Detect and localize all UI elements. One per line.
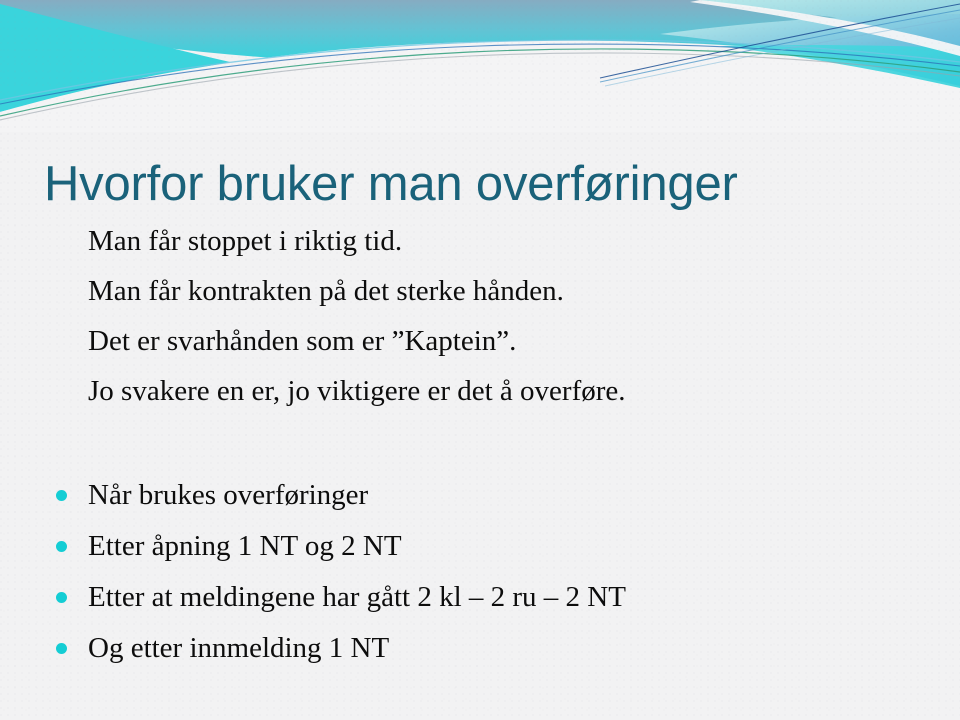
- intro-line: Man får stoppet i riktig tid.: [88, 216, 918, 266]
- list-item-label: Etter åpning 1 NT og 2 NT: [88, 530, 402, 562]
- presentation-slide: Hvorfor bruker man overføringer Man får …: [0, 0, 960, 720]
- list-item-label: Og etter innmelding 1 NT: [88, 632, 389, 664]
- bullet-dot-icon: [56, 541, 67, 552]
- list-item: Og etter innmelding 1 NT: [56, 623, 936, 674]
- intro-paragraph-block: Man får stoppet i riktig tid. Man får ko…: [88, 216, 918, 416]
- bullet-list: Når brukes overføringer Etter åpning 1 N…: [56, 470, 936, 674]
- list-item: Etter at meldingene har gått 2 kl – 2 ru…: [56, 572, 936, 623]
- intro-line: Man får kontrakten på det sterke hånden.: [88, 266, 918, 316]
- list-item-label: Etter at meldingene har gått 2 kl – 2 ru…: [88, 581, 626, 613]
- list-item-label: Når brukes overføringer: [88, 479, 368, 511]
- bullet-dot-icon: [56, 490, 67, 501]
- list-item: Etter åpning 1 NT og 2 NT: [56, 521, 936, 572]
- slide-title: Hvorfor bruker man overføringer: [44, 159, 924, 210]
- bullet-dot-icon: [56, 592, 67, 603]
- list-item: Når brukes overføringer: [56, 470, 936, 521]
- bullet-dot-icon: [56, 643, 67, 654]
- intro-line: Det er svarhånden som er ”Kaptein”.: [88, 316, 918, 366]
- intro-line: Jo svakere en er, jo viktigere er det å …: [88, 366, 918, 416]
- header-wave-decoration: [0, 0, 960, 132]
